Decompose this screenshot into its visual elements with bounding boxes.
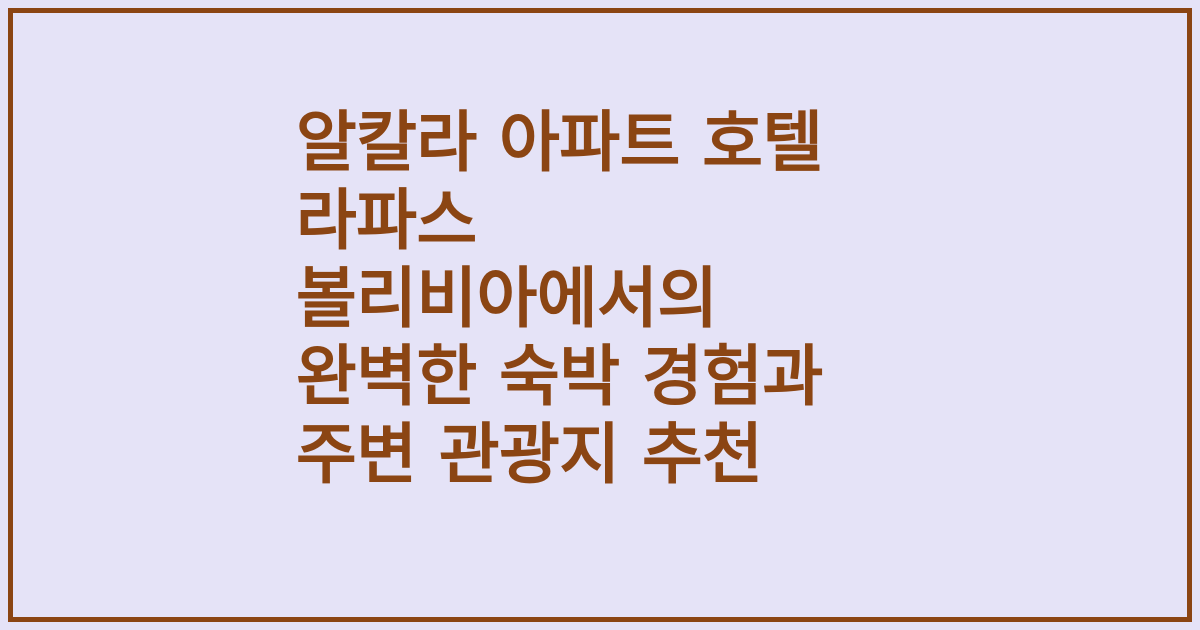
title-line-2: 라파스 [296,182,1136,260]
title-line-1: 알칼라 아파트 호텔 [296,104,1136,182]
title-line-4: 완벽한 숙박 경험과 [296,338,1136,416]
title-line-5: 주변 관광지 추천 [296,416,1136,494]
title-block: 알칼라 아파트 호텔 라파스 볼리비아에서의 완벽한 숙박 경험과 주변 관광지… [296,104,1136,494]
title-line-3: 볼리비아에서의 [296,260,1136,338]
poster-canvas: 알칼라 아파트 호텔 라파스 볼리비아에서의 완벽한 숙박 경험과 주변 관광지… [0,0,1200,630]
